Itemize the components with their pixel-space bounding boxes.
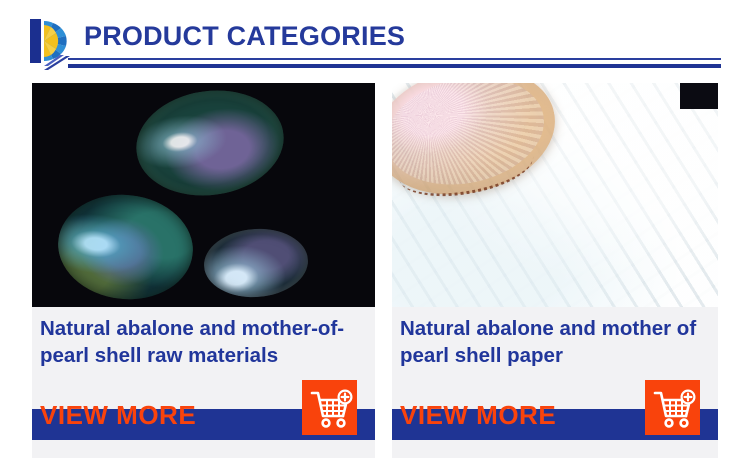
product-category-title: Natural abalone and mother-of-pearl shel… (40, 315, 360, 369)
abalone-shells-photo (32, 83, 375, 307)
product-category-title: Natural abalone and mother of pearl shel… (400, 315, 720, 369)
rule-swoosh-icon (44, 54, 70, 72)
view-more-label[interactable]: VIEW MORE (400, 400, 556, 430)
page-title: PRODUCT CATEGORIES (84, 19, 405, 53)
add-to-cart-button[interactable] (645, 380, 700, 435)
pearl-mosaic-photo (392, 83, 718, 307)
section-header: PRODUCT CATEGORIES (0, 0, 750, 76)
product-category-card[interactable]: Natural abalone and mother of pearl shel… (392, 83, 718, 458)
view-more-area[interactable]: VIEW MORE (32, 380, 375, 458)
header-rule-thin (68, 58, 721, 60)
view-more-area[interactable]: VIEW MORE (392, 380, 718, 458)
shopping-cart-add-icon (302, 380, 357, 435)
shopping-cart-add-icon (645, 380, 700, 435)
header-rule-thick (68, 64, 721, 68)
view-more-label[interactable]: VIEW MORE (40, 400, 196, 430)
photo-dark-corner (680, 83, 718, 109)
shell-shape-b (53, 188, 198, 306)
product-photo (32, 83, 375, 307)
add-to-cart-button[interactable] (302, 380, 357, 435)
logo-bar-icon (30, 19, 41, 63)
product-category-card[interactable]: Natural abalone and mother-of-pearl shel… (32, 83, 375, 458)
product-photo (392, 83, 718, 307)
product-category-list: Natural abalone and mother-of-pearl shel… (0, 76, 750, 476)
shell-shape-c (202, 225, 310, 300)
shell-shape-a (129, 83, 290, 205)
